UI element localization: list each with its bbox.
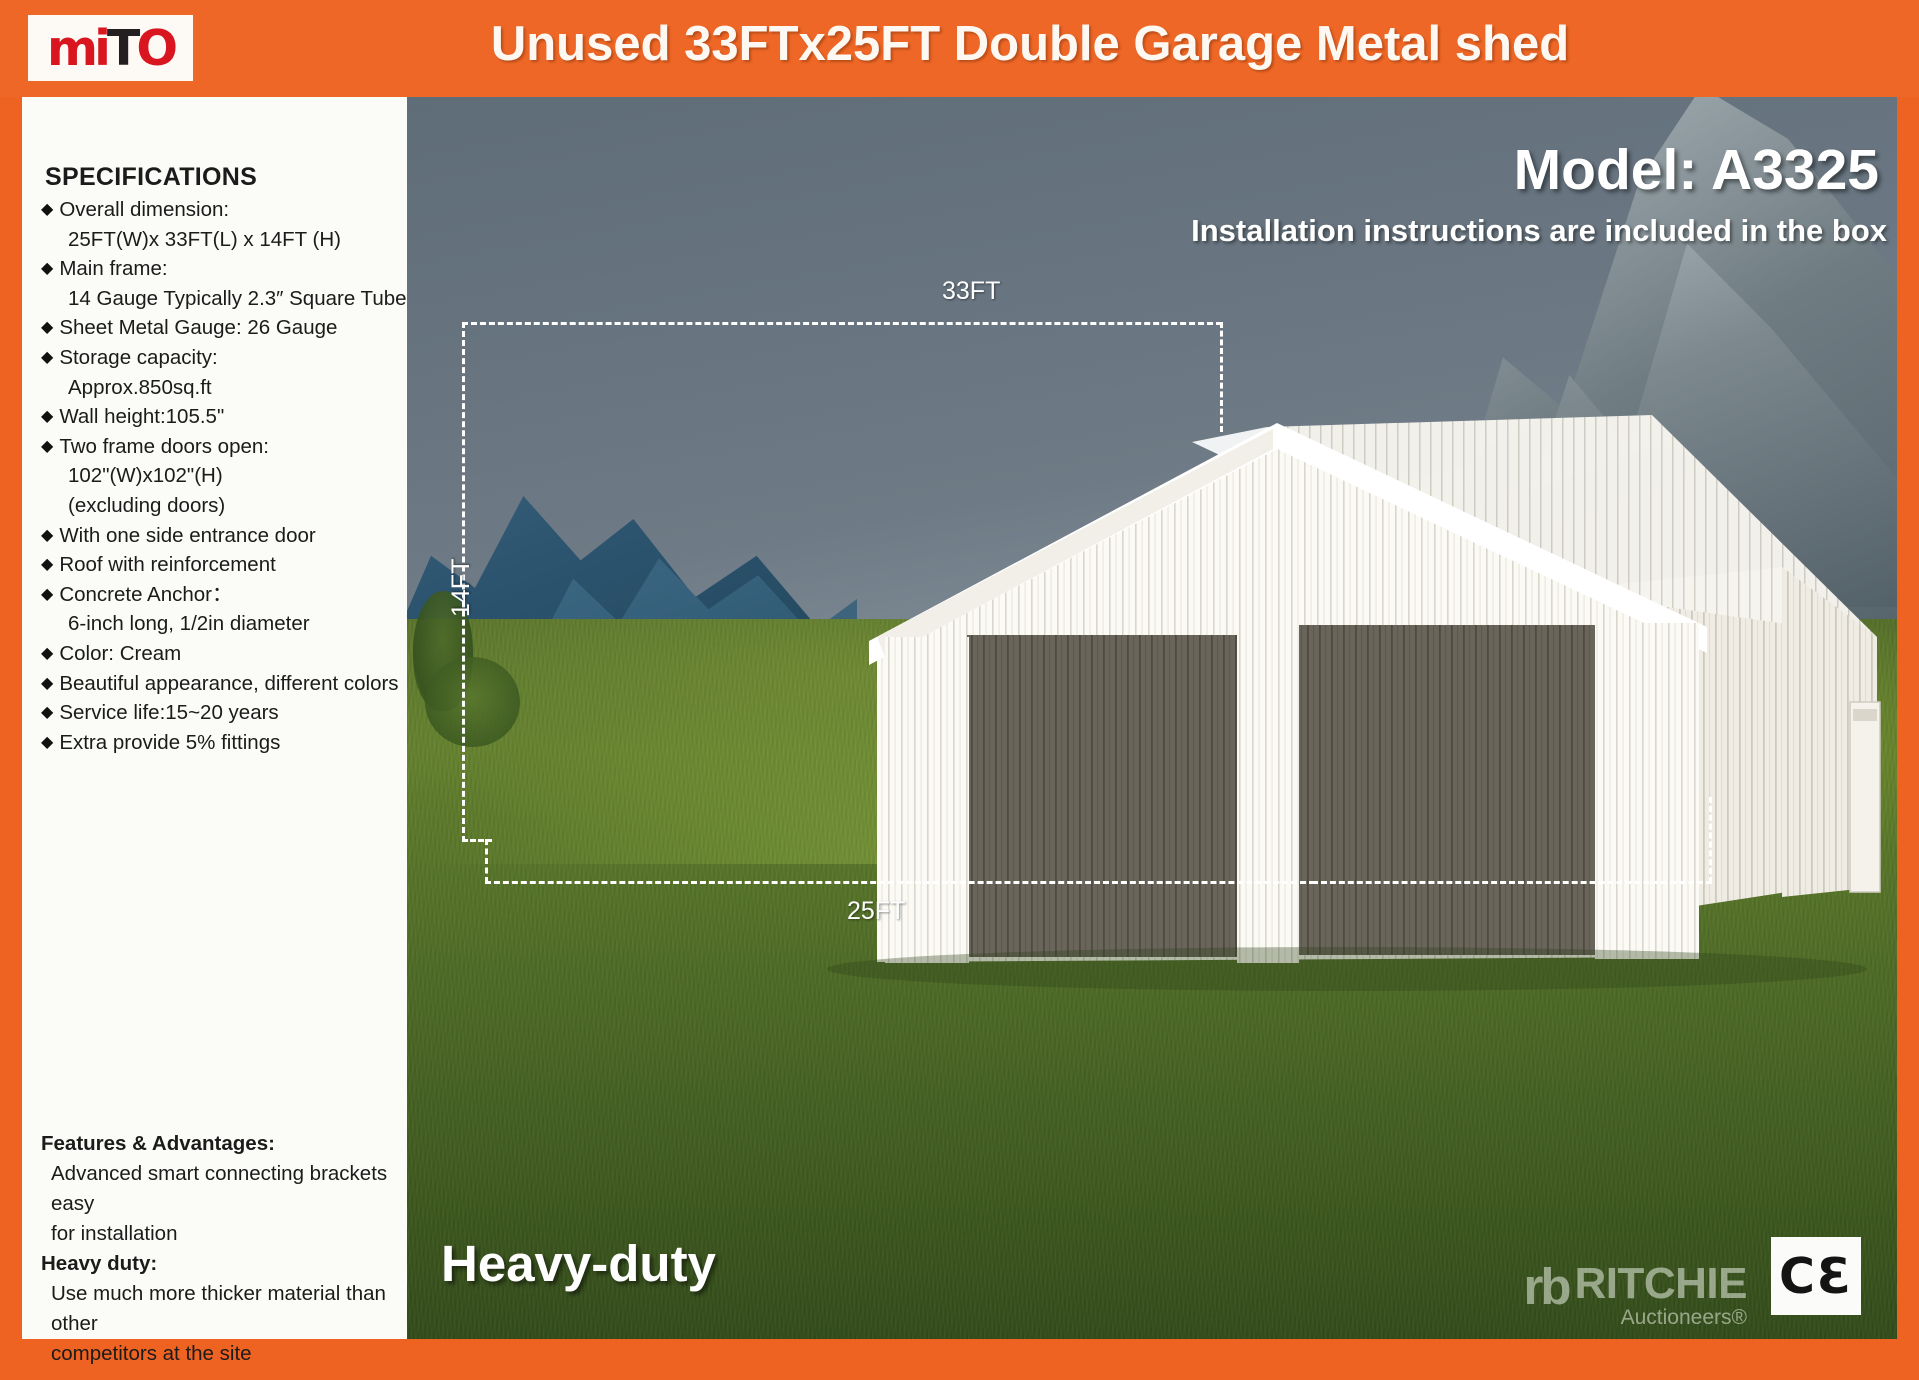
- spec-item: ◆Sheet Metal Gauge: 26 Gauge: [41, 313, 407, 343]
- spec-label: Service life:15~20 years: [59, 698, 278, 728]
- spec-item: ◆Color: Cream: [41, 639, 407, 669]
- diamond-bullet-icon: ◆: [41, 254, 53, 284]
- logo-letter-i: i: [94, 20, 107, 77]
- spec-sub-line: 25FT(W)x 33FT(L) x 14FT (H): [41, 225, 407, 255]
- spec-label: Main frame:: [59, 254, 167, 284]
- auctioneers-text: Auctioneers®: [1575, 1306, 1748, 1329]
- dimension-label-width: 25FT: [847, 897, 905, 926]
- spec-label: With one side entrance door: [59, 521, 315, 551]
- spec-label: Wall height:105.5": [59, 402, 224, 432]
- spec-item: ◆Two frame doors open:: [41, 432, 407, 462]
- spec-item: ◆Main frame:: [41, 254, 407, 284]
- features-heading: Features & Advantages:: [41, 1129, 413, 1159]
- dimension-label-height: 14FT: [447, 559, 476, 617]
- mito-logo-wordmark: miTO: [47, 24, 174, 73]
- diamond-bullet-icon: ◆: [41, 521, 53, 551]
- spec-label: Two frame doors open:: [59, 432, 269, 462]
- metal-shed-illustration: [407, 97, 1897, 1339]
- spec-sub-line: 102"(W)x102"(H): [41, 461, 407, 491]
- features-body-line: Advanced smart connecting brackets easy: [41, 1159, 413, 1219]
- heavy-duty-heading: Heavy duty:: [41, 1249, 413, 1279]
- spec-item: ◆Beautiful appearance, different colors: [41, 669, 407, 699]
- specifications-list: ◆Overall dimension: 25FT(W)x 33FT(L) x 1…: [41, 195, 407, 757]
- spec-item: ◆Service life:15~20 years: [41, 698, 407, 728]
- spec-item: ◆With one side entrance door: [41, 521, 407, 551]
- heavy-duty-tagline: Heavy-duty: [441, 1234, 716, 1293]
- shed-door-opening-left: [967, 635, 1237, 957]
- mito-logo: miTO: [28, 15, 193, 81]
- spec-item: ◆Roof with reinforcement: [41, 550, 407, 580]
- ritchie-text: RITCHIE: [1575, 1263, 1748, 1305]
- heavy-duty-body-line: competitors at the site: [41, 1339, 413, 1369]
- shed-ground-shadow: [827, 947, 1867, 991]
- diamond-bullet-icon: ◆: [41, 728, 53, 758]
- diamond-bullet-icon: ◆: [41, 550, 53, 580]
- spec-label: Concrete Anchor：: [59, 580, 232, 610]
- logo-letter-m: m: [47, 20, 94, 77]
- header-bar: miTO Unused 33FTx25FT Double Garage Meta…: [0, 0, 1919, 97]
- specifications-heading: SPECIFICATIONS: [45, 163, 257, 192]
- ce-mark-text: CƐ: [1779, 1248, 1853, 1305]
- features-body-line: for installation: [41, 1219, 413, 1249]
- rb-logo-text: rb: [1524, 1263, 1569, 1311]
- dimension-line-peak-right: [1220, 322, 1223, 432]
- product-photo: 33FT 14FT 25FT Model: A3325 Installation…: [407, 97, 1897, 1339]
- logo-letter-o: O: [136, 20, 174, 77]
- specifications-panel: SPECIFICATIONS ◆Overall dimension: 25FT(…: [22, 97, 407, 1339]
- spec-label: Sheet Metal Gauge: 26 Gauge: [59, 313, 337, 343]
- dimension-line-width-right-tick: [1709, 797, 1712, 883]
- diamond-bullet-icon: ◆: [41, 343, 53, 373]
- diamond-bullet-icon: ◆: [41, 195, 53, 225]
- spec-sub-line: Approx.850sq.ft: [41, 373, 407, 403]
- installation-note: Installation instructions are included i…: [1191, 213, 1887, 249]
- page-title: Unused 33FTx25FT Double Garage Metal she…: [250, 16, 1810, 72]
- spec-label: Beautiful appearance, different colors: [59, 669, 398, 699]
- dimension-label-length: 33FT: [942, 277, 1000, 306]
- spec-label: Extra provide 5% fittings: [59, 728, 280, 758]
- dimension-line-width-bottom: [485, 881, 1315, 884]
- spec-sub-line: (excluding doors): [41, 491, 407, 521]
- spec-label: Overall dimension:: [59, 195, 229, 225]
- dimension-line-width-bottom-right: [1312, 881, 1712, 884]
- diamond-bullet-icon: ◆: [41, 698, 53, 728]
- diamond-bullet-icon: ◆: [41, 669, 53, 699]
- shed-right-pillar: [1595, 623, 1699, 959]
- shed-center-pillar: [1237, 625, 1299, 963]
- spec-item: ◆Concrete Anchor：: [41, 580, 407, 610]
- diamond-bullet-icon: ◆: [41, 313, 53, 343]
- dimension-line-width-left-tick: [485, 839, 488, 883]
- spec-sub-line: 14 Gauge Typically 2.3″ Square Tube: [41, 284, 407, 314]
- spec-item: ◆Wall height:105.5": [41, 402, 407, 432]
- dimension-line-length-top: [462, 322, 1222, 325]
- diamond-bullet-icon: ◆: [41, 432, 53, 462]
- spec-label: Storage capacity:: [59, 343, 217, 373]
- logo-letter-t: T: [107, 20, 136, 77]
- model-number: Model: A3325: [1514, 137, 1879, 203]
- spec-sub-line: 6-inch long, 1/2in diameter: [41, 609, 407, 639]
- ce-mark-badge: CƐ: [1771, 1237, 1861, 1315]
- spec-item: ◆Storage capacity:: [41, 343, 407, 373]
- spec-item: ◆Extra provide 5% fittings: [41, 728, 407, 758]
- diamond-bullet-icon: ◆: [41, 639, 53, 669]
- heavy-duty-body-line: Use much more thicker material than othe…: [41, 1279, 413, 1339]
- shed-door-opening-right: [1297, 625, 1597, 955]
- diamond-bullet-icon: ◆: [41, 402, 53, 432]
- diamond-bullet-icon: ◆: [41, 580, 53, 610]
- shed-side-door-vent: [1853, 709, 1877, 721]
- product-poster: miTO Unused 33FTx25FT Double Garage Meta…: [0, 0, 1919, 1380]
- spec-label: Roof with reinforcement: [59, 550, 275, 580]
- ritchie-wordmark: RITCHIE Auctioneers®: [1575, 1263, 1748, 1329]
- shed-side-entrance-door: [1850, 702, 1880, 892]
- ritchie-watermark: rb RITCHIE Auctioneers®: [1524, 1263, 1748, 1329]
- spec-item: ◆Overall dimension:: [41, 195, 407, 225]
- features-advantages-block: Features & Advantages: Advanced smart co…: [41, 1129, 413, 1369]
- spec-label: Color: Cream: [59, 639, 181, 669]
